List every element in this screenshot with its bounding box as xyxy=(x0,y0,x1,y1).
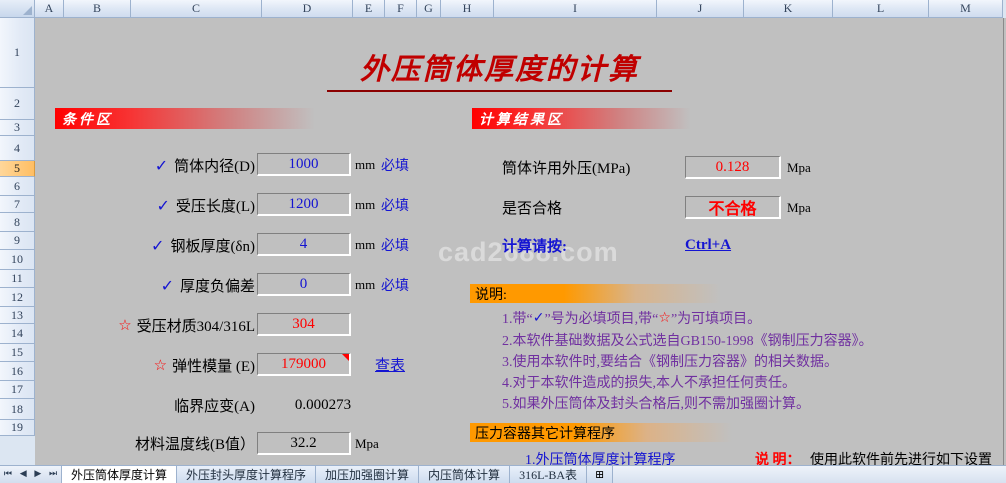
row-header-3[interactable]: 3 xyxy=(0,120,35,136)
input-negative-deviation[interactable]: 0 xyxy=(257,273,351,296)
other-programs-header: 压力容器其它计算程序 xyxy=(470,423,755,442)
input-value: 1200 xyxy=(289,196,319,213)
required-flag-pressure-length: 必填 xyxy=(381,193,409,216)
required-check-icon: ✓ xyxy=(155,156,168,175)
note-line-2: 2.本软件基础数据及公式选自GB150-1998《钢制压力容器》。 xyxy=(502,330,873,350)
last-sheet-icon[interactable]: ⏭ xyxy=(49,470,57,479)
calc-action-label: 计算请按: xyxy=(502,234,567,257)
field-label-text: 临界应变(A) xyxy=(174,395,255,416)
unit-plate-thickness: mm xyxy=(355,233,375,256)
result-value: 0.128 xyxy=(716,159,750,176)
row-header-8[interactable]: 8 xyxy=(0,213,35,232)
column-header-H[interactable]: H xyxy=(441,0,494,18)
note-text-pre: 1.带“ xyxy=(502,308,533,328)
field-label-plate-thickness: ✓ 钢板厚度(δn) xyxy=(95,233,255,257)
result-label-qualified: 是否合格 xyxy=(502,196,562,219)
value-critical-strain: 0.000273 xyxy=(268,394,378,416)
field-label-text: 受压材质304/316L xyxy=(137,315,255,336)
lookup-table-link[interactable]: 查表 xyxy=(375,353,405,376)
row-header-4[interactable]: 4 xyxy=(0,136,35,161)
other-program-item-1[interactable]: 1.外压筒体厚度计算程序 xyxy=(525,450,676,465)
field-label-negative-deviation: ✓ 厚度负偏差 xyxy=(95,273,255,297)
input-inner-diameter[interactable]: 1000 xyxy=(257,153,351,176)
prev-sheet-icon[interactable]: ◀ xyxy=(20,470,27,479)
result-label-text: 是否合格 xyxy=(502,197,562,218)
column-header-B[interactable]: B xyxy=(64,0,131,18)
input-value: 0 xyxy=(300,276,308,293)
row-header-13[interactable]: 13 xyxy=(0,307,35,324)
input-value: 4 xyxy=(300,236,308,253)
required-flag-inner-diameter: 必填 xyxy=(381,153,409,176)
condition-section-header-label: 条件区 xyxy=(62,109,113,129)
next-sheet-icon[interactable]: ▶ xyxy=(34,470,41,479)
note-line-4: 4.对于本软件造成的损失,本人不承担任何责任。 xyxy=(502,372,796,392)
field-label-elastic-modulus: ☆ 弹性模量 (E) xyxy=(75,353,255,377)
input-value: 32.2 xyxy=(290,435,316,452)
setup-note-prefix: 说 明： xyxy=(755,450,801,465)
column-header-row: A B C D E F G H I J K L M xyxy=(0,0,1006,18)
input-value: 179000 xyxy=(281,356,326,373)
row-header-7[interactable]: 7 xyxy=(0,196,35,213)
column-header-C[interactable]: C xyxy=(131,0,262,18)
unit-pressure-length: mm xyxy=(355,193,375,216)
note-line-5: 5.如果外压筒体及封头合格后,则不需加强圈计算。 xyxy=(502,393,810,413)
row-header-2[interactable]: 2 xyxy=(0,88,35,120)
column-header-I[interactable]: I xyxy=(494,0,657,18)
field-label-material: ☆ 受压材质304/316L xyxy=(75,313,255,337)
unit-negative-deviation: mm xyxy=(355,273,375,296)
optional-star-icon: ☆ xyxy=(658,310,671,326)
required-check-icon: ✓ xyxy=(156,196,169,215)
optional-star-icon: ☆ xyxy=(118,316,131,334)
row-header-5[interactable]: 5 xyxy=(0,161,35,177)
row-header-9[interactable]: 9 xyxy=(0,232,35,250)
result-section-header: 计算结果区 xyxy=(472,108,752,129)
input-value: 304 xyxy=(292,316,315,333)
required-check-icon: ✓ xyxy=(161,276,174,295)
optional-star-icon: ☆ xyxy=(154,356,167,374)
row-header-15[interactable]: 15 xyxy=(0,344,35,362)
sheet-tab-1[interactable]: 外压封头厚度计算程序 xyxy=(177,466,316,483)
unit-qualified: Mpa xyxy=(787,196,811,219)
worksheet-canvas[interactable]: cad2688.com 外压筒体厚度的计算 条件区 ✓ 筒体内径(D) 1000… xyxy=(35,18,1006,465)
column-header-A[interactable]: A xyxy=(35,0,64,18)
row-header-11[interactable]: 11 xyxy=(0,270,35,288)
result-value-qualified[interactable]: 不合格 xyxy=(685,196,781,219)
page-title: 外压筒体厚度的计算 xyxy=(327,46,672,92)
field-label-text: 厚度负偏差 xyxy=(180,275,255,296)
result-label-allowable-pressure: 筒体许用外压(MPa) xyxy=(502,156,630,179)
notes-section-header: 说明: xyxy=(470,284,755,303)
required-check-icon: ✓ xyxy=(533,310,545,326)
unit-allowable-pressure: Mpa xyxy=(787,156,811,179)
sheet-right-border xyxy=(1003,18,1004,465)
excel-window: A B C D E F G H I J K L M 1 2 3 4 5 6 7 … xyxy=(0,0,1006,483)
unit-b-value: Mpa xyxy=(355,432,379,455)
row-header-19[interactable]: 19 xyxy=(0,420,35,436)
input-pressure-length[interactable]: 1200 xyxy=(257,193,351,216)
unit-inner-diameter: mm xyxy=(355,153,375,176)
notes-section-header-label: 说明: xyxy=(475,284,507,304)
row-header-1[interactable]: 1 xyxy=(0,18,35,88)
note-text-mid: ”号为必填项目,带“ xyxy=(544,308,658,328)
field-label-text: 筒体内径(D) xyxy=(174,155,255,176)
sheet-tab-2[interactable]: 加压加强圈计算 xyxy=(316,466,419,483)
result-section-header-label: 计算结果区 xyxy=(479,109,564,129)
row-header-14[interactable]: 14 xyxy=(0,324,35,344)
column-header-M[interactable]: M xyxy=(929,0,1003,18)
column-header-E[interactable]: E xyxy=(353,0,385,18)
row-header-12[interactable]: 12 xyxy=(0,288,35,307)
field-label-text: 材料温度线(B值） xyxy=(135,433,255,454)
field-label-critical-strain: 临界应变(A) xyxy=(95,394,255,416)
row-header-column: 1 2 3 4 5 6 7 8 9 10 11 12 13 14 15 16 1… xyxy=(0,18,35,465)
input-b-value[interactable]: 32.2 xyxy=(257,432,351,455)
row-header-18[interactable]: 18 xyxy=(0,399,35,420)
row-header-16[interactable]: 16 xyxy=(0,362,35,381)
input-elastic-modulus[interactable]: 179000 xyxy=(257,353,351,376)
field-label-pressure-length: ✓ 受压长度(L) xyxy=(95,193,255,217)
sheet-tab-4[interactable]: 316L-BA表 xyxy=(510,466,587,483)
field-label-inner-diameter: ✓ 筒体内径(D) xyxy=(95,153,255,177)
sheet-tab-bar: ⏮ ◀ ▶ ⏭ 外压筒体厚度计算 外压封头厚度计算程序 加压加强圈计算 内压筒体… xyxy=(0,465,1006,483)
required-check-icon: ✓ xyxy=(151,236,164,255)
comment-indicator-icon xyxy=(342,354,349,361)
new-sheet-icon[interactable]: ⊞ xyxy=(587,466,613,483)
row-header-17[interactable]: 17 xyxy=(0,381,35,399)
row-header-6[interactable]: 6 xyxy=(0,177,35,196)
column-header-G[interactable]: G xyxy=(417,0,441,18)
note-line-1: 1.带“ ✓ ”号为必填项目,带“ ☆ ”为可填项目。 xyxy=(502,308,761,328)
sheet-tab-3[interactable]: 内压筒体计算 xyxy=(419,466,510,483)
readonly-value: 0.000273 xyxy=(295,397,351,414)
first-sheet-icon[interactable]: ⏮ xyxy=(4,470,12,479)
field-label-text: 受压长度(L) xyxy=(176,195,255,216)
column-header-J[interactable]: J xyxy=(657,0,744,18)
field-label-b-value: 材料温度线(B值） xyxy=(85,432,255,455)
result-value-allowable-pressure[interactable]: 0.128 xyxy=(685,156,781,179)
column-header-F[interactable]: F xyxy=(385,0,417,18)
tab-bar-filler xyxy=(613,466,1006,483)
required-flag-negative-deviation: 必填 xyxy=(381,273,409,296)
field-label-text: 钢板厚度(δn) xyxy=(170,235,255,256)
result-label-text: 筒体许用外压(MPa) xyxy=(502,157,630,178)
status-badge: 不合格 xyxy=(708,195,756,219)
setup-note-text: 使用此软件前先进行如下设置 xyxy=(810,450,992,465)
note-text-post: ”为可填项目。 xyxy=(671,308,761,328)
input-material[interactable]: 304 xyxy=(257,313,351,336)
select-all-corner[interactable] xyxy=(0,0,35,18)
other-programs-header-label: 压力容器其它计算程序 xyxy=(475,423,615,443)
row-header-10[interactable]: 10 xyxy=(0,250,35,270)
field-label-text: 弹性模量 (E) xyxy=(172,355,255,376)
input-plate-thickness[interactable]: 4 xyxy=(257,233,351,256)
required-flag-plate-thickness: 必填 xyxy=(381,233,409,256)
sheet-tab-0[interactable]: 外压筒体厚度计算 xyxy=(62,466,177,483)
column-header-L[interactable]: L xyxy=(833,0,929,18)
condition-section-header: 条件区 xyxy=(55,108,388,129)
column-header-D[interactable]: D xyxy=(262,0,353,18)
column-header-K[interactable]: K xyxy=(744,0,833,18)
input-value: 1000 xyxy=(289,156,319,173)
tab-nav-buttons: ⏮ ◀ ▶ ⏭ xyxy=(0,466,62,483)
note-line-3: 3.使用本软件时,要结合《钢制压力容器》的相关数据。 xyxy=(502,351,838,371)
calc-shortcut-key[interactable]: Ctrl+A xyxy=(685,234,731,257)
